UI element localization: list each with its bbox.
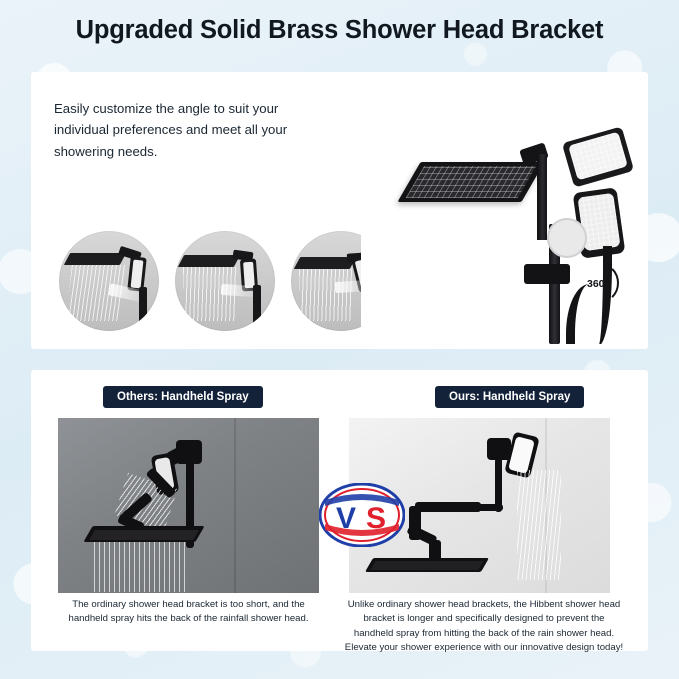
svg-text:S: S (366, 502, 386, 535)
badge-others: Others: Handheld Spray (103, 386, 263, 408)
svg-text:V: V (336, 502, 356, 535)
hero-product-photo: 360° (361, 78, 643, 344)
ours-rain-head-face (370, 561, 483, 570)
comparison-card: Others: Handheld Spray Ours: Handheld Sp… (31, 370, 648, 651)
others-rain-water (94, 542, 188, 592)
page-title: Upgraded Solid Brass Shower Head Bracket (0, 16, 679, 45)
vs-badge: V S (319, 483, 405, 547)
ours-spray-stream (517, 470, 561, 580)
others-rain-head-face (89, 530, 199, 540)
badge-ours: Ours: Handheld Spray (435, 386, 584, 408)
feature-description: Easily customize the angle to suit your … (54, 98, 334, 162)
photo-others (58, 418, 319, 593)
caption-others: The ordinary shower head bracket is too … (58, 598, 319, 627)
handheld-holder (547, 218, 587, 258)
page-title-text: Upgraded Solid Brass Shower Head Bracket (0, 16, 679, 45)
wall-seam-left (234, 418, 236, 593)
vs-badge-icon: V S (319, 483, 405, 547)
feature-card: Easily customize the angle to suit your … (31, 72, 648, 349)
angle-thumbnail-row (59, 231, 391, 331)
supply-pipe (537, 154, 547, 240)
brass-bracket (524, 264, 570, 284)
ours-bracket-arm (415, 502, 481, 512)
rain-shower-head-face (406, 166, 536, 198)
page-root: Upgraded Solid Brass Shower Head Bracket… (0, 0, 679, 679)
angle-option-2-thumbnail (175, 231, 275, 331)
angle-option-1-thumbnail (59, 231, 159, 331)
rotation-angle-label: 360° (587, 278, 609, 290)
caption-ours: Unlike ordinary shower head brackets, th… (343, 598, 625, 656)
